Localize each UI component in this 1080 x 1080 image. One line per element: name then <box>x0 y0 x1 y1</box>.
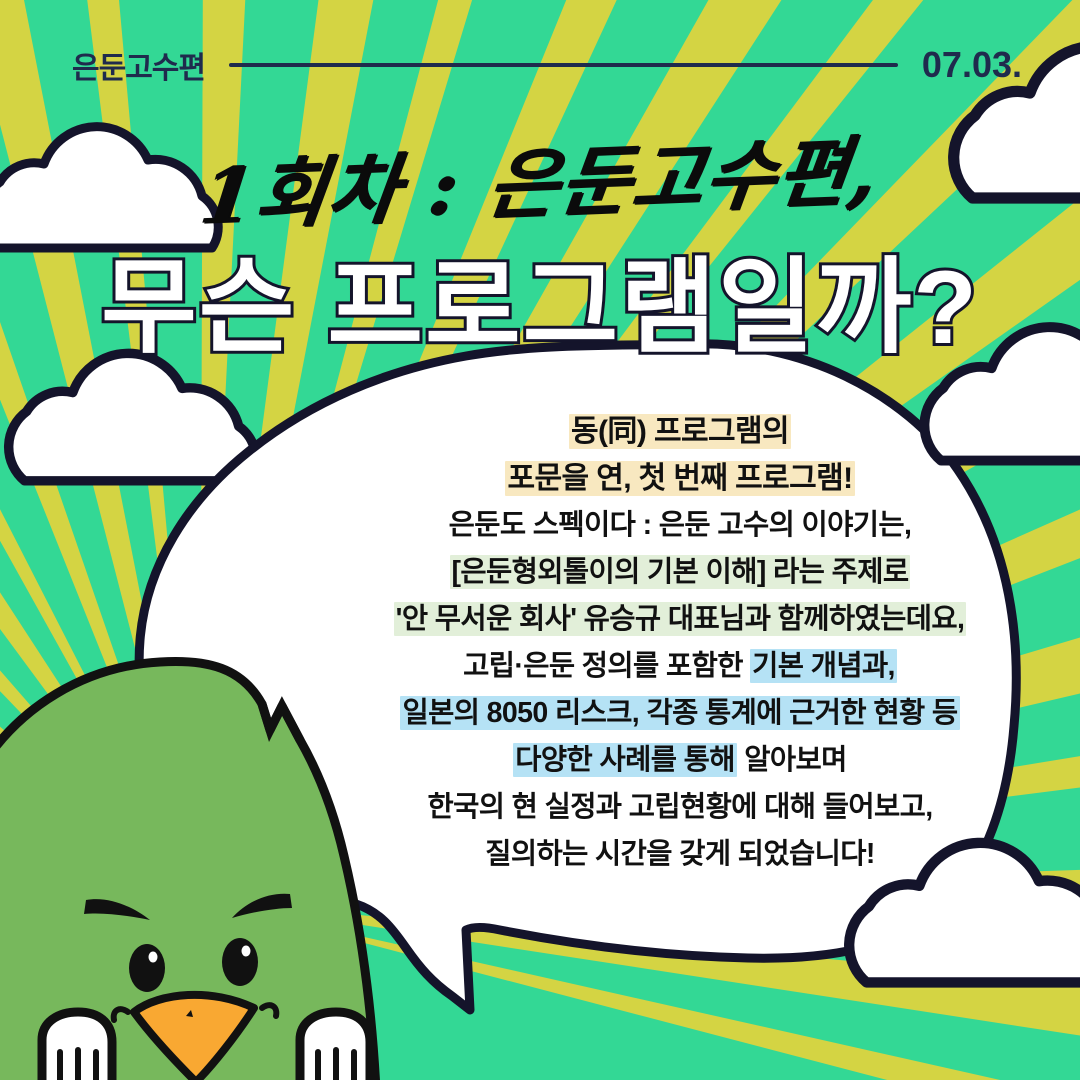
bird-eye-left <box>129 944 165 992</box>
bird-eye-right <box>222 938 258 986</box>
green-bird-mascot <box>0 0 1080 1080</box>
bird-svg <box>0 0 1080 1080</box>
bird-eye-right-glint <box>242 946 251 957</box>
bird-eye-left-glint <box>149 952 158 963</box>
card-news-canvas: 동(同) 프로그램의포문을 연, 첫 번째 프로그램!은둔도 스펙이다 : 은둔… <box>0 0 1080 1080</box>
